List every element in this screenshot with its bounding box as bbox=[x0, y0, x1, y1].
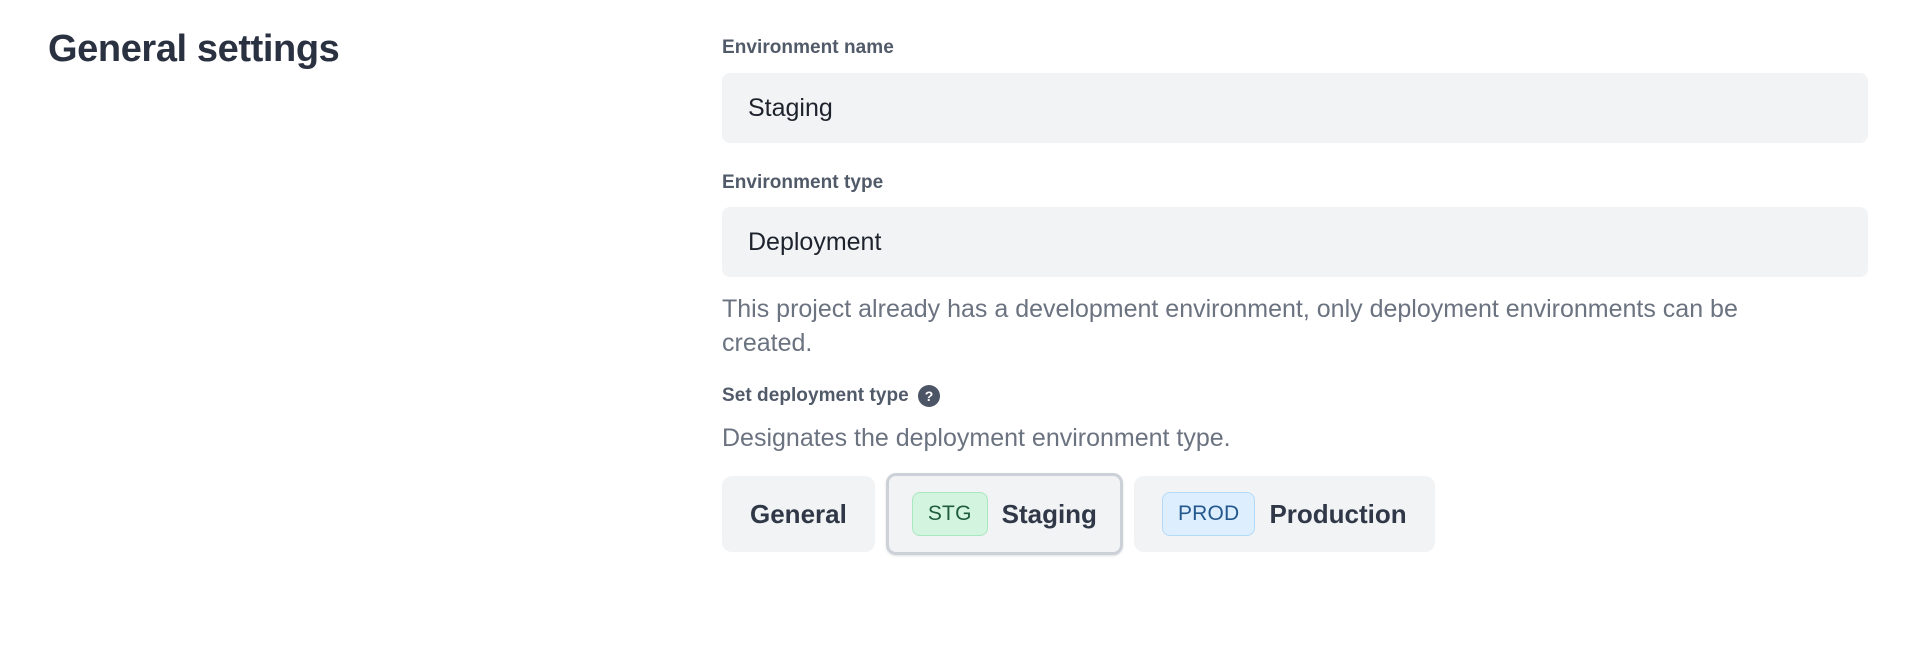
svg-text:?: ? bbox=[925, 388, 934, 404]
deployment-option-production-label: Production bbox=[1269, 501, 1406, 527]
environment-type-helper-text: This project already has a development e… bbox=[722, 293, 1832, 360]
deployment-type-field: Set deployment type ? Designates the dep… bbox=[722, 384, 1868, 555]
environment-name-field: Environment name bbox=[722, 36, 1868, 143]
deployment-type-options: General STG Staging PROD Production bbox=[722, 473, 1868, 555]
deployment-type-label-row: Set deployment type ? bbox=[722, 384, 1868, 409]
deployment-type-description: Designates the deployment environment ty… bbox=[722, 422, 1868, 455]
deployment-option-staging[interactable]: STG Staging bbox=[886, 473, 1123, 555]
environment-name-input[interactable] bbox=[722, 73, 1868, 143]
deployment-option-general[interactable]: General bbox=[722, 476, 875, 552]
question-mark-circle-icon[interactable]: ? bbox=[918, 385, 940, 407]
deployment-option-production[interactable]: PROD Production bbox=[1134, 476, 1435, 552]
environment-type-field: Environment type This project already ha… bbox=[722, 171, 1868, 360]
environment-name-label: Environment name bbox=[722, 36, 1868, 61]
deployment-option-general-label: General bbox=[750, 501, 847, 527]
page-title: General settings bbox=[48, 26, 339, 74]
settings-form: Environment name Environment type This p… bbox=[722, 36, 1868, 555]
production-badge: PROD bbox=[1162, 492, 1255, 536]
deployment-option-staging-label: Staging bbox=[1002, 501, 1097, 527]
environment-type-label: Environment type bbox=[722, 171, 1868, 196]
deployment-type-label: Set deployment type bbox=[722, 384, 909, 409]
field-spacer bbox=[722, 143, 1868, 171]
environment-type-input[interactable] bbox=[722, 207, 1868, 277]
staging-badge: STG bbox=[912, 492, 988, 536]
general-settings-page: General settings Environment name Enviro… bbox=[0, 0, 1916, 652]
